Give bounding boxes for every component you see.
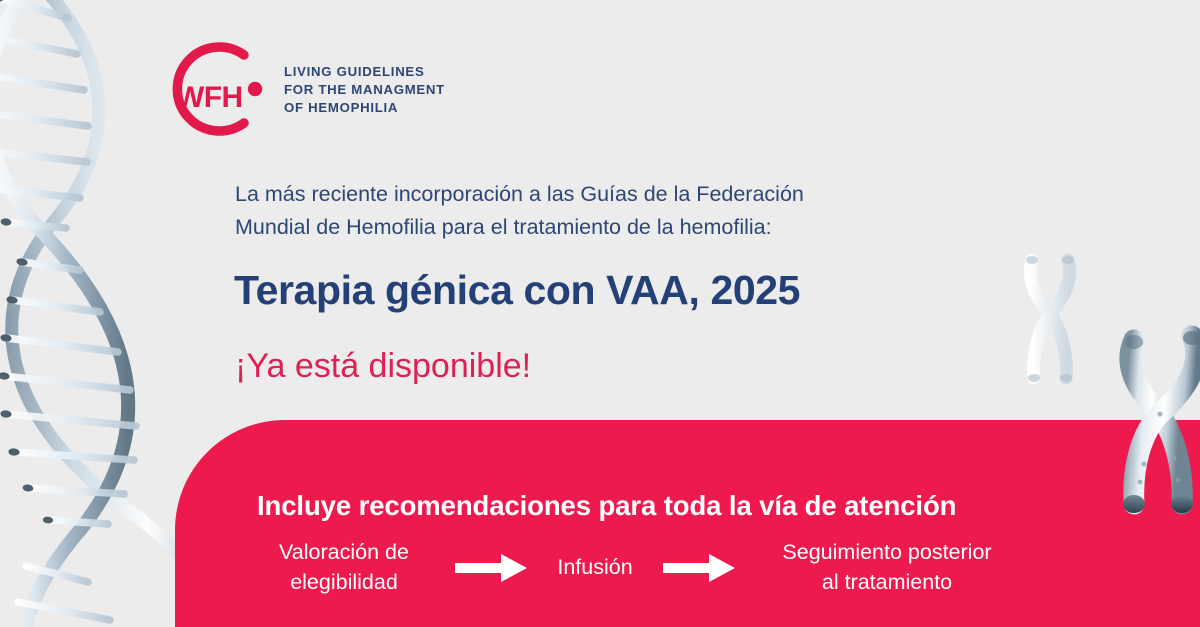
banner-title: Incluye recomendaciones para toda la vía…	[257, 490, 956, 522]
pathway-step-followup: Seguimiento posterior al tratamiento	[737, 538, 1037, 597]
wfh-circle-logo: WFH	[152, 33, 270, 145]
logo-tagline-line-3: OF HEMOPHILIA	[284, 99, 445, 117]
arrow-right-icon-2	[661, 551, 737, 585]
kicker-text: La más reciente incorporación a las Guía…	[235, 178, 955, 243]
availability-subheading: ¡Ya está disponible!	[235, 348, 531, 385]
logo-tagline: LIVING GUIDELINES FOR THE MANAGMENT OF H…	[284, 63, 445, 116]
arrow-right-icon-1	[453, 551, 529, 585]
care-pathway: Valoración de elegibilidad Infusión Segu…	[235, 538, 1135, 597]
logo-tagline-line-2: FOR THE MANAGMENT	[284, 81, 445, 99]
pathway-step-infusion: Infusión	[529, 553, 661, 583]
kicker-line-2: Mundial de Hemofilia para el tratamiento…	[235, 211, 955, 244]
page-title: Terapia génica con VAA, 2025	[234, 268, 800, 313]
pathway-step-eligibility: Valoración de elegibilidad	[235, 538, 453, 597]
chromosome-illustration-small	[1012, 248, 1088, 388]
kicker-line-1: La más reciente incorporación a las Guía…	[235, 178, 955, 211]
wfh-wordmark: WFH	[176, 83, 243, 113]
recommendations-banner: Incluye recomendaciones para toda la vía…	[175, 420, 1200, 627]
promo-poster: Incluye recomendaciones para toda la vía…	[0, 0, 1200, 627]
wfh-living-guidelines-logo[interactable]: WFH LIVING GUIDELINES FOR THE MANAGMENT …	[152, 33, 492, 145]
logo-tagline-line-1: LIVING GUIDELINES	[284, 63, 445, 81]
